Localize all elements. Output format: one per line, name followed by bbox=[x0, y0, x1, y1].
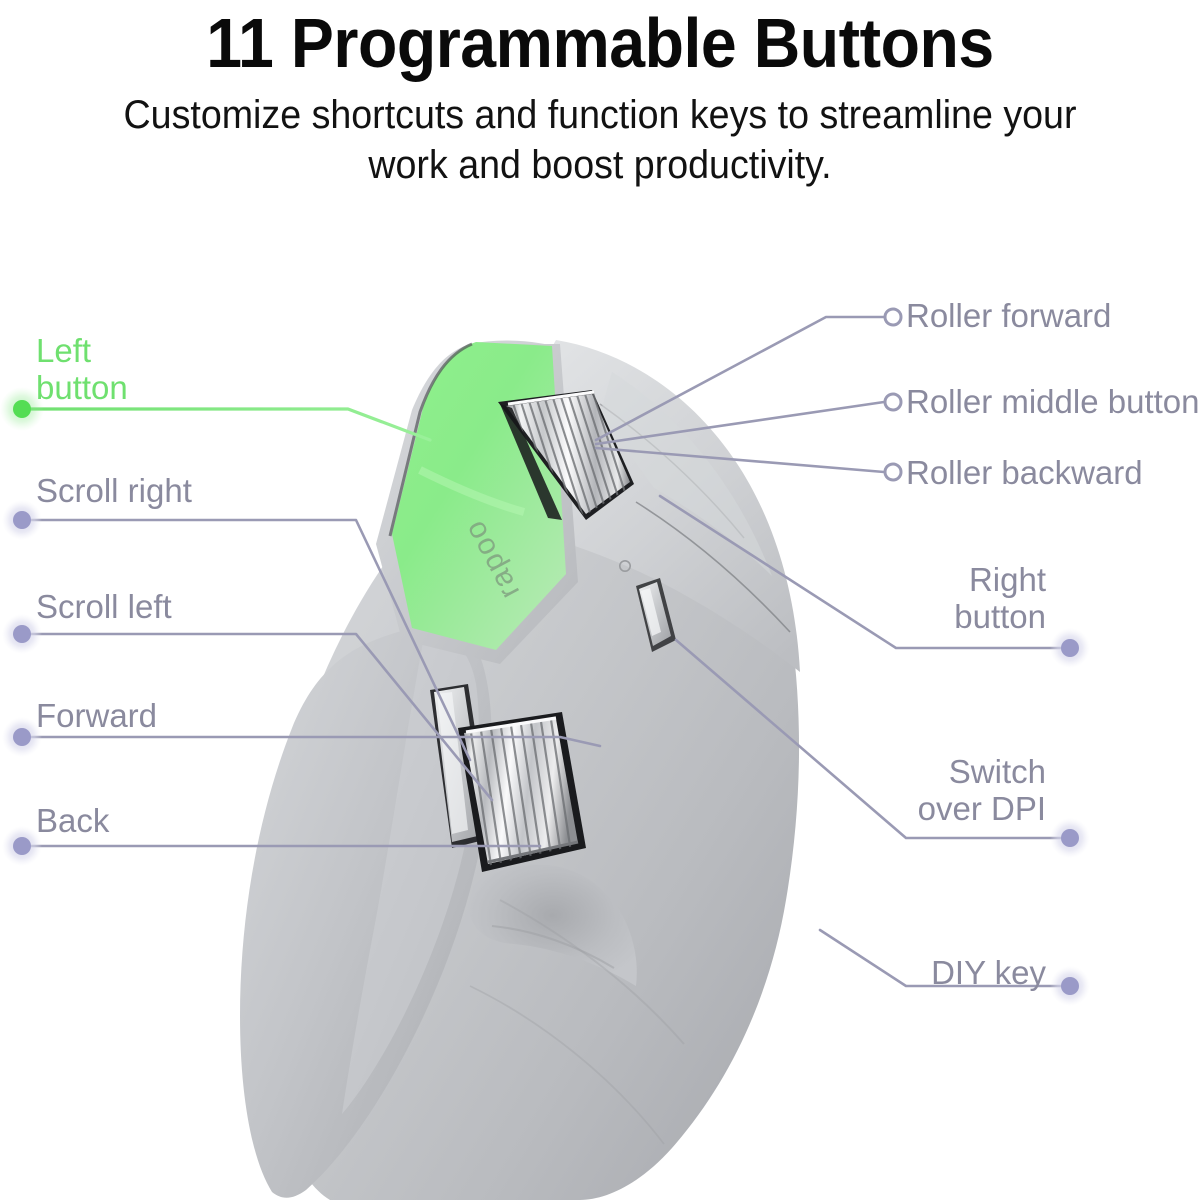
marker-back[interactable] bbox=[13, 837, 31, 855]
marker-scroll-left[interactable] bbox=[13, 625, 31, 643]
callout-scroll-left[interactable]: Scroll left bbox=[36, 589, 172, 626]
callout-forward[interactable]: Forward bbox=[36, 698, 157, 735]
callout-roller-backward[interactable]: Roller backward bbox=[906, 455, 1143, 492]
callout-diy-key[interactable]: DIY key bbox=[931, 955, 1046, 992]
marker-left-button[interactable] bbox=[13, 400, 31, 418]
marker-forward[interactable] bbox=[13, 728, 31, 746]
callout-switch-over-dpi[interactable]: Switch over DPI bbox=[918, 754, 1046, 828]
callout-roller-middle-button[interactable]: Roller middle button bbox=[906, 384, 1200, 421]
leader-roller-backward bbox=[596, 448, 884, 472]
leader-roller-middle bbox=[596, 402, 884, 444]
marker-roller-forward[interactable] bbox=[885, 309, 901, 325]
marker-switch-dpi[interactable] bbox=[1061, 829, 1079, 847]
leader-forward bbox=[22, 737, 600, 746]
callout-right-button[interactable]: Right button bbox=[954, 562, 1046, 636]
leader-left-button bbox=[22, 409, 430, 440]
marker-diy-key[interactable] bbox=[1061, 977, 1079, 995]
leader-roller-forward bbox=[596, 317, 884, 440]
header: 11 Programmable Buttons Customize shortc… bbox=[0, 0, 1200, 191]
page-subtitle: Customize shortcuts and function keys to… bbox=[116, 90, 1084, 192]
markers-roller bbox=[885, 309, 901, 480]
marker-right-button[interactable] bbox=[1061, 639, 1079, 657]
callout-left-button[interactable]: Left button bbox=[36, 333, 128, 407]
marker-scroll-right[interactable] bbox=[13, 511, 31, 529]
markers-right bbox=[1050, 628, 1090, 1006]
markers-left bbox=[0, 387, 44, 866]
callout-roller-forward[interactable]: Roller forward bbox=[906, 298, 1111, 335]
infographic-page: 11 Programmable Buttons Customize shortc… bbox=[0, 0, 1200, 1200]
marker-roller-middle[interactable] bbox=[885, 394, 901, 410]
callout-back[interactable]: Back bbox=[36, 803, 109, 840]
callout-scroll-right[interactable]: Scroll right bbox=[36, 473, 192, 510]
page-title: 11 Programmable Buttons bbox=[48, 0, 1152, 82]
marker-roller-backward[interactable] bbox=[885, 464, 901, 480]
